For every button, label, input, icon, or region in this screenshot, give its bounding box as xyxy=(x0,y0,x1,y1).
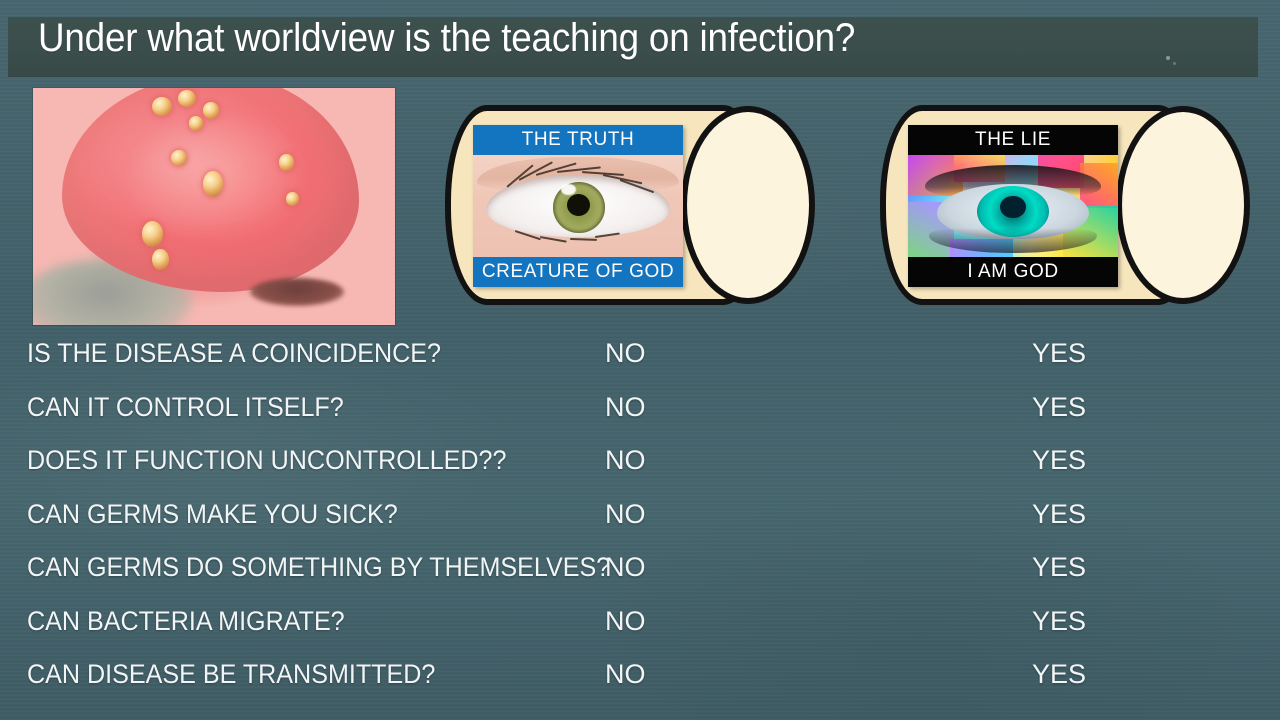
table-row: IS THE DISEASE A COINCIDENCE? NO YES xyxy=(0,336,1280,390)
lie-eye-image xyxy=(908,155,1118,257)
truth-cylinder-cap xyxy=(681,106,815,304)
truth-answer: NO xyxy=(605,443,675,477)
lie-answer: YES xyxy=(1032,336,1112,370)
photo-pustule xyxy=(279,154,293,171)
truth-answer: NO xyxy=(605,604,675,638)
eye-glint xyxy=(561,184,576,195)
lie-bottom-banner: I AM GOD xyxy=(908,257,1118,287)
photo-pustule xyxy=(203,171,223,197)
lie-answer: YES xyxy=(1032,497,1112,531)
page-title: Under what worldview is the teaching on … xyxy=(38,16,855,60)
table-row: CAN DISEASE BE TRANSMITTED? NO YES xyxy=(0,657,1280,711)
lie-answer: YES xyxy=(1032,550,1112,584)
eyelash xyxy=(570,238,597,241)
lie-answer: YES xyxy=(1032,390,1112,424)
qa-table: IS THE DISEASE A COINCIDENCE? NO YES CAN… xyxy=(0,336,1280,711)
table-row: CAN GERMS MAKE YOU SICK? NO YES xyxy=(0,497,1280,551)
table-row: CAN GERMS DO SOMETHING BY THEMSELVES? NO… xyxy=(0,550,1280,604)
truth-cylinder: THE TRUTH xyxy=(445,105,820,305)
eyelash xyxy=(540,236,567,243)
truth-eye-image xyxy=(473,155,683,257)
truth-answer: NO xyxy=(605,657,675,691)
photo-pustule xyxy=(189,116,203,130)
question-label: CAN DISEASE BE TRANSMITTED? xyxy=(27,657,435,691)
lie-top-banner: THE LIE xyxy=(908,125,1118,155)
dust-speck xyxy=(1166,56,1170,60)
presentation-slide: Under what worldview is the teaching on … xyxy=(0,0,1280,720)
truth-answer: NO xyxy=(605,336,675,370)
polygon-eye-illustration xyxy=(908,155,1118,257)
question-label: CAN IT CONTROL ITSELF? xyxy=(27,390,344,424)
lie-cylinder: THE LIE I AM GOD xyxy=(880,105,1255,305)
photo-pustule xyxy=(142,221,164,247)
lie-answer: YES xyxy=(1032,443,1112,477)
dust-speck xyxy=(1173,62,1176,65)
natural-eye-illustration xyxy=(473,155,683,257)
pupil xyxy=(1000,196,1025,218)
question-label: CAN GERMS MAKE YOU SICK? xyxy=(27,497,398,531)
question-label: CAN BACTERIA MIGRATE? xyxy=(27,604,345,638)
table-row: CAN BACTERIA MIGRATE? NO YES xyxy=(0,604,1280,658)
lie-card: THE LIE I AM GOD xyxy=(908,125,1118,287)
question-label: IS THE DISEASE A COINCIDENCE? xyxy=(27,336,441,370)
photo-pustule xyxy=(171,150,187,167)
question-label: CAN GERMS DO SOMETHING BY THEMSELVES? xyxy=(27,550,610,584)
lie-answer: YES xyxy=(1032,657,1112,691)
truth-top-banner: THE TRUTH xyxy=(473,125,683,155)
photo-pustule xyxy=(152,249,168,270)
table-row: CAN IT CONTROL ITSELF? NO YES xyxy=(0,390,1280,444)
truth-card: THE TRUTH xyxy=(473,125,683,287)
pupil xyxy=(567,194,590,216)
infection-photo xyxy=(33,88,395,325)
truth-answer: NO xyxy=(605,497,675,531)
truth-bottom-banner: CREATURE OF GOD xyxy=(473,257,683,287)
table-row: DOES IT FUNCTION UNCONTROLLED?? NO YES xyxy=(0,443,1280,497)
lie-answer: YES xyxy=(1032,604,1112,638)
truth-answer: NO xyxy=(605,390,675,424)
question-label: DOES IT FUNCTION UNCONTROLLED?? xyxy=(27,443,506,477)
truth-answer: NO xyxy=(605,550,675,584)
photo-nostril xyxy=(250,278,344,306)
lie-cylinder-cap xyxy=(1116,106,1250,304)
photo-pustule xyxy=(178,90,196,107)
